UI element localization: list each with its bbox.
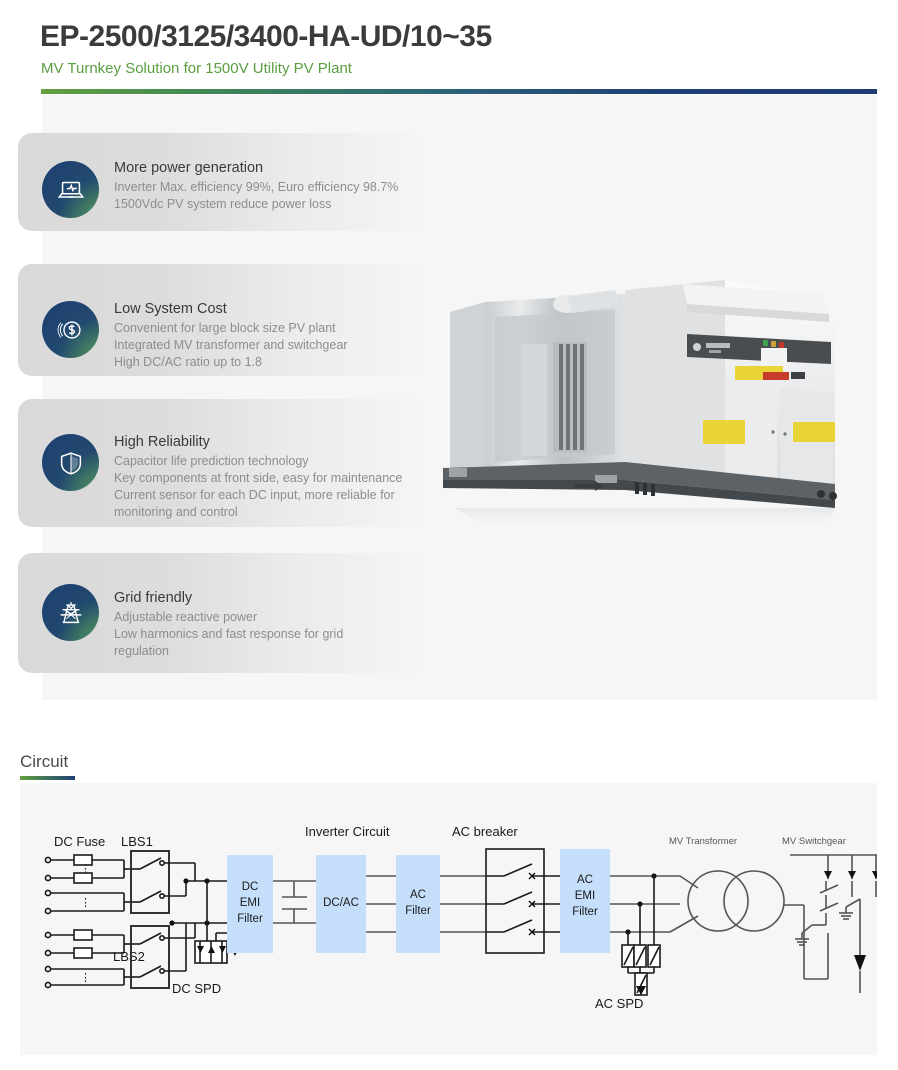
feature-title: Low System Cost [114,301,347,317]
circuit-section-title: Circuit [20,752,68,772]
feature-text: Low System Cost Convenient for large blo… [114,301,347,371]
dc-emi-line3: Filter [237,913,263,925]
ac-filter-block [396,855,440,953]
feature-line: 1500Vdc PV system reduce power loss [114,196,398,213]
dc-emi-line2: EMI [240,897,260,909]
shield-icon [42,434,99,491]
feature-text: Grid friendly Adjustable reactive power … [114,590,343,660]
svg-text:⋮: ⋮ [80,863,91,875]
page-subtitle: MV Turnkey Solution for 1500V Utility PV… [41,60,352,77]
ac-filter-line2: Filter [405,905,431,917]
feature-title: Grid friendly [114,590,343,606]
feature-line: regulation [114,643,343,660]
dollar-coin-icon [42,301,99,358]
ac-filter-line1: AC [410,889,426,901]
feature-title: More power generation [114,160,398,176]
feature-line: Key components at front side, easy for m… [114,470,402,487]
label-mv-switchgear: MV Switchgear [782,836,846,847]
feature-line: High DC/AC ratio up to 1.8 [114,354,347,371]
label-dc-fuse: DC Fuse [54,834,105,849]
feature-line: monitoring and control [114,504,402,521]
ac-emi-line3: Filter [572,906,598,918]
laptop-monitor-icon [42,161,99,218]
feature-line: Inverter Max. efficiency 99%, Euro effic… [114,179,398,196]
label-lbs2: LBS2 [113,949,145,964]
label-mv-transformer: MV Transformer [669,836,737,847]
ac-emi-line1: AC [577,874,593,886]
label-lbs1: LBS1 [121,834,153,849]
product-photo [425,272,865,532]
label-dc-spd: DC SPD [172,981,221,996]
circuit-diagram: DC Fuse LBS1 LBS2 DC SPD Inverter Circui… [20,783,877,1055]
feature-line: Adjustable reactive power [114,609,343,626]
svg-text:⋮: ⋮ [80,972,91,984]
feature-line: Capacitor life prediction technology [114,453,402,470]
label-inverter-circuit: Inverter Circuit [305,824,390,839]
feature-title: High Reliability [114,434,402,450]
label-ac-spd: AC SPD [595,996,643,1011]
feature-line: Convenient for large block size PV plant [114,320,347,337]
page-title: EP-2500/3125/3400-HA-UD/10~35 [40,20,492,54]
feature-text: More power generation Inverter Max. effi… [114,160,398,213]
feature-line: Low harmonics and fast response for grid [114,626,343,643]
feature-text: High Reliability Capacitor life predicti… [114,434,402,521]
dc-ac-label: DC/AC [323,897,359,909]
transmission-tower-icon [42,584,99,641]
header-accent-bar [41,89,877,94]
datasheet-page: EP-2500/3125/3400-HA-UD/10~35 MV Turnkey… [0,0,898,1070]
circuit-section-underline [20,776,75,780]
ac-emi-line2: EMI [575,890,595,902]
feature-line: Integrated MV transformer and switchgear [114,337,347,354]
svg-text:⋮: ⋮ [80,897,91,909]
label-ac-breaker: AC breaker [452,824,518,839]
feature-line: Current sensor for each DC input, more r… [114,487,402,504]
dc-emi-line1: DC [242,881,259,893]
